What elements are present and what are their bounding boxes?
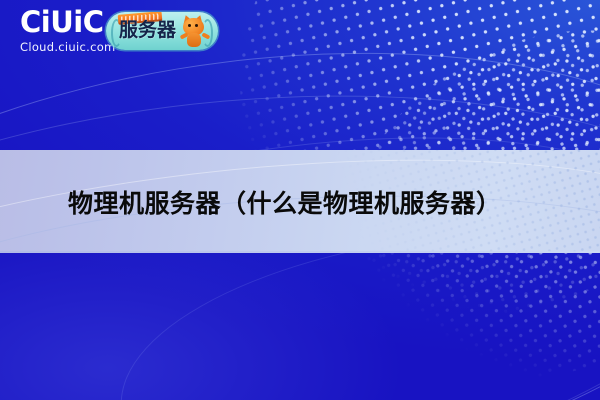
server-badge: 服务器: [106, 12, 218, 50]
title-band: 物理机服务器（什么是物理机服务器）: [0, 150, 600, 253]
logo-subtitle: Cloud.ciuic.com: [20, 42, 116, 54]
site-logo[interactable]: CiUiC Cloud.ciuic.com: [20, 8, 116, 54]
banner-image: CiUiC Cloud.ciuic.com 服务器 物理机服务器（什么是物理机服…: [0, 0, 600, 400]
logo-wordmark: CiUiC: [20, 8, 116, 37]
orange-cat-mascot-icon: [180, 15, 210, 49]
badge-label: 服务器: [119, 21, 176, 40]
page-title: 物理机服务器（什么是物理机服务器）: [68, 150, 502, 253]
